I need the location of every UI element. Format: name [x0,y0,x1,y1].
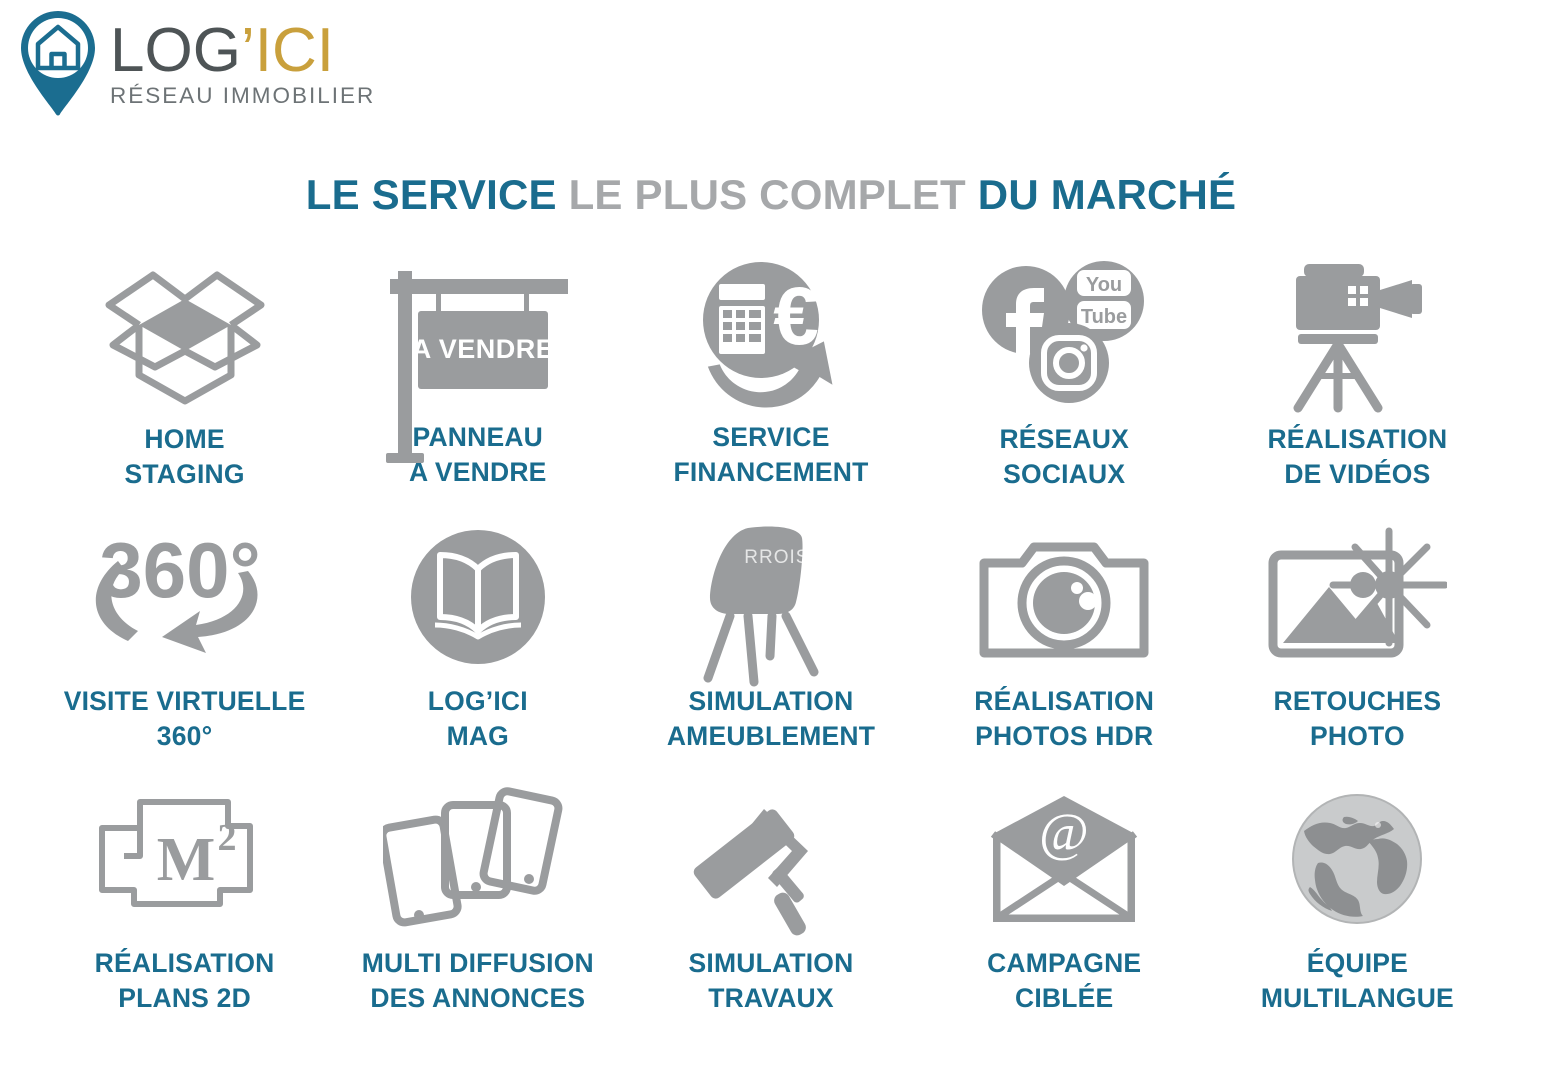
service-label: CAMPAGNE CIBLÉE [987,946,1141,1016]
service-item-visite-virtuelle-360[interactable]: 360° VISITE VIRTUELLE 360° [38,520,331,782]
logo-name-part1: LOG [110,16,241,85]
map-pin-house-icon [14,8,102,120]
svg-text:2: 2 [217,817,236,859]
calculator-euro-arrow-icon: € [624,258,917,418]
service-label: LOG’ICI MAG [428,684,528,754]
title-segment-3: DU MARCHÉ [978,171,1236,218]
service-label: MULTI DIFFUSION DES ANNONCES [362,946,594,1016]
brand-logo: LOG’ICI RÉSEAU IMMOBILIER [14,8,375,120]
service-item-realisation-de-videos[interactable]: RÉALISATION DE VIDÉOS [1211,258,1504,520]
360-rotation-icon: 360° [38,520,331,680]
service-item-realisation-plans-2d[interactable]: M 2 RÉALISATION PLANS 2D [38,782,331,1044]
service-item-panneau-a-vendre[interactable]: A VENDRE PANNEAU A VENDRE [331,258,624,520]
svg-text:You: You [1086,274,1122,296]
service-label: RÉALISATION PLANS 2D [95,946,275,1016]
image-sparkle-icon [1211,520,1504,680]
logo-tagline: RÉSEAU IMMOBILIER [110,83,375,109]
title-segment-2: LE PLUS COMPLET [569,171,966,218]
service-item-logici-mag[interactable]: LOG’ICI MAG [331,520,624,782]
service-label: SIMULATION AMEUBLEMENT [667,684,875,754]
service-label: HOME STAGING [125,422,245,492]
logo-name-part2: ICI [255,16,334,85]
service-label: SERVICE FINANCEMENT [673,420,868,490]
icon-text: @ [1039,802,1089,862]
icon-text: 360° [99,526,260,614]
globe-icon [1211,782,1504,942]
service-item-home-staging[interactable]: HOME STAGING [38,258,331,520]
chair-icon: RROIS [624,520,917,680]
paint-roller-icon [624,782,917,942]
service-label: SIMULATION TRAVAUX [689,946,854,1016]
multi-devices-icon [331,782,624,942]
service-item-equipe-multilangue[interactable]: ÉQUIPE MULTILANGUE [1211,782,1504,1044]
page-title: LE SERVICE LE PLUS COMPLET DU MARCHÉ [0,171,1542,219]
camera-icon [918,520,1211,680]
service-item-reseaux-sociaux[interactable]: You Tube RÉSEAUX SOCIAUX [918,258,1211,520]
service-item-simulation-travaux[interactable]: SIMULATION TRAVAUX [624,782,917,1044]
svg-text:M: M [156,826,215,894]
title-segment-1: LE SERVICE [306,171,557,218]
svg-text:Tube: Tube [1081,306,1127,328]
floorplan-m2-icon: M 2 [38,782,331,942]
service-item-realisation-photos-hdr[interactable]: RÉALISATION PHOTOS HDR [918,520,1211,782]
logo-apostrophe: ’ [241,16,255,85]
logo-wordmark: LOG’ICI RÉSEAU IMMOBILIER [110,8,375,109]
service-label: RÉSEAUX SOCIAUX [999,422,1129,492]
social-networks-icon: You Tube [918,258,1211,418]
service-label: RETOUCHES PHOTO [1274,684,1442,754]
instagram-icon [1029,323,1109,403]
service-item-multi-diffusion[interactable]: MULTI DIFFUSION DES ANNONCES [331,782,624,1044]
service-label: RÉALISATION DE VIDÉOS [1267,422,1447,492]
sign-text: A VENDRE [412,334,555,364]
service-item-simulation-ameublement[interactable]: RROIS SIMULATION AMEUBLEMENT [624,520,917,782]
for-sale-sign-icon: A VENDRE [331,258,624,418]
service-label: VISITE VIRTUELLE 360° [64,684,306,754]
service-label: RÉALISATION PHOTOS HDR [974,684,1154,754]
service-item-campagne-ciblee[interactable]: @ CAMPAGNE CIBLÉE [918,782,1211,1044]
envelope-at-icon: @ [918,782,1211,942]
service-item-retouches-photo[interactable]: RETOUCHES PHOTO [1211,520,1504,782]
service-label: ÉQUIPE MULTILANGUE [1261,946,1454,1016]
open-book-circle-icon [331,520,624,680]
service-item-service-financement[interactable]: € SERVICE FINANCEMENT [624,258,917,520]
open-box-icon [38,258,331,418]
video-camera-tripod-icon [1211,258,1504,418]
services-grid: HOME STAGING A VENDRE PANNEAU A VENDRE [38,258,1504,1044]
